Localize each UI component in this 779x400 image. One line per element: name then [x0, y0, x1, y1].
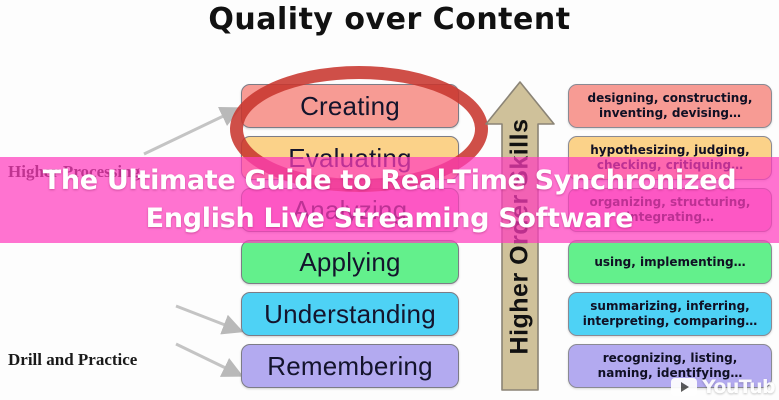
pyramid-level-label: Applying: [299, 247, 400, 278]
pyramid-level-remembering[interactable]: Remembering: [241, 344, 459, 388]
screenshot-root: Quality over Content Higher Processing D…: [0, 0, 779, 400]
youtube-watermark: YouTub: [671, 376, 775, 398]
description-card-understanding[interactable]: summarizing, inferring, interpreting, co…: [568, 292, 772, 336]
description-card-creating[interactable]: designing, constructing, inventing, devi…: [568, 84, 772, 128]
description-text: designing, constructing, inventing, devi…: [575, 91, 765, 121]
youtube-wordmark: YouTub: [702, 376, 775, 398]
label-drill-and-practice: Drill and Practice: [8, 350, 137, 370]
description-card-applying[interactable]: using, implementing…: [568, 240, 772, 284]
pyramid-level-label: Understanding: [264, 299, 436, 330]
pyramid-level-applying[interactable]: Applying: [241, 240, 459, 284]
page-title: Quality over Content: [0, 2, 779, 37]
pyramid-level-understanding[interactable]: Understanding: [241, 292, 459, 336]
youtube-play-icon: [671, 378, 697, 396]
arrow-to-understanding-icon: [172, 300, 252, 340]
description-text: using, implementing…: [594, 255, 745, 270]
description-text: summarizing, inferring, interpreting, co…: [575, 299, 765, 329]
pyramid-level-label: Remembering: [267, 351, 433, 382]
arrow-to-remembering-icon: [172, 340, 252, 386]
overlay-headline-text: The Ultimate Guide to Real-Time Synchron…: [0, 162, 779, 238]
overlay-headline-banner: The Ultimate Guide to Real-Time Synchron…: [0, 157, 779, 243]
